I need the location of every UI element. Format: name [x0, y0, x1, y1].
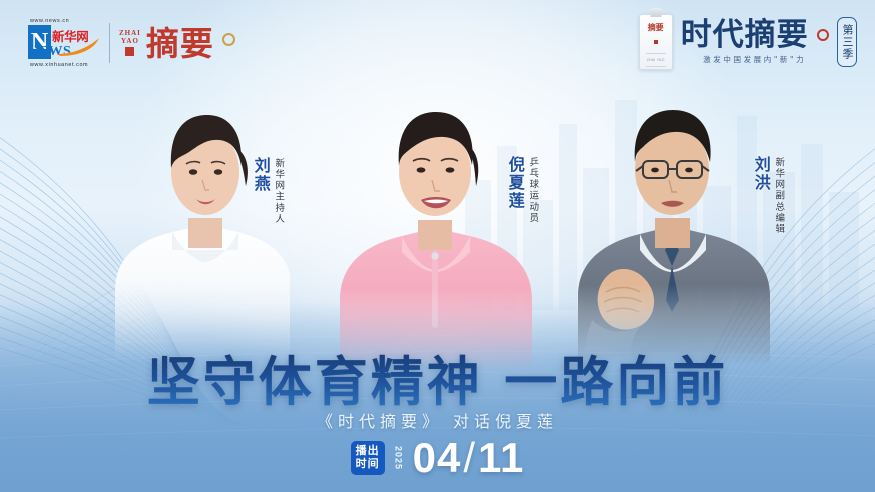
program-logo-block: 摘要 ZHAI YAO 时代摘要 激发中国发展内"新"力 第三季 [639, 14, 857, 70]
guest-name-1: 刘燕 [252, 157, 269, 193]
air-separator: / [463, 434, 476, 481]
air-time-badge: 播出 时间 [351, 441, 385, 475]
zhaiyao-logo: ZHAI YAO 摘要 [119, 27, 235, 60]
guest-role-1: 新华网主持人 [273, 157, 283, 225]
guest-role-3: 新华网副总编辑 [773, 156, 783, 235]
program-subtitle: 激发中国发展内"新"力 [681, 54, 829, 65]
bottle-label: 摘要 ZHAI YAO [644, 23, 668, 71]
program-circle-icon [817, 29, 829, 41]
program-title-block: 时代摘要 激发中国发展内"新"力 [681, 19, 829, 66]
air-month: 04 [413, 434, 462, 481]
zhaiyao-circle-icon [222, 33, 235, 46]
xinhua-url-top: www.news.cn [30, 18, 100, 24]
guest-name-tag-3: 刘洪 新华网副总编辑 [752, 156, 783, 235]
subheadline: 《时代摘要》 对话倪夏莲 [0, 408, 875, 432]
air-day: 11 [478, 434, 524, 481]
broadcast-promo-poster: www.news.cn N 新华网 NEWS www.xinhuanet.com… [0, 0, 875, 492]
guest-name-2: 倪夏莲 [506, 156, 523, 210]
logo-divider [109, 23, 110, 63]
xinhua-logo-core: N 新华网 NEWS [28, 25, 100, 59]
bottle-cap [650, 8, 661, 17]
portrait-liu-yan [115, 115, 292, 360]
program-title-row: 时代摘要 [681, 19, 829, 52]
air-year: 2025 [394, 446, 404, 470]
headline: 坚守体育精神 一路向前 [0, 340, 875, 416]
xinhua-url-bottom: www.xinhuanet.com [30, 62, 100, 68]
xinhua-brand-logo: www.news.cn N 新华网 NEWS www.xinhuanet.com… [28, 18, 235, 68]
bottle-divider-2 [646, 66, 666, 67]
air-date: 04/11 [413, 437, 525, 479]
bottle-brand-name: 摘要 [644, 23, 668, 31]
guest-name-tag-2: 倪夏莲 乒乓球运动员 [506, 156, 537, 224]
guest-role-2: 乒乓球运动员 [527, 156, 537, 224]
zhaiyao-pinyin-line2: YAO [119, 38, 141, 45]
orange-swoosh-icon [58, 38, 100, 56]
program-title: 时代摘要 [681, 19, 809, 52]
xinhua-logo-mark: www.news.cn N 新华网 NEWS www.xinhuanet.com [28, 18, 100, 68]
portrait-liu-hong [578, 110, 770, 366]
zhaiyao-chinese: 摘要 [146, 27, 214, 60]
air-badge-line2: 时间 [356, 458, 380, 471]
zhaiyao-pinyin: ZHAI YAO [119, 30, 141, 56]
bottle-subtext: ZHAI YAO [644, 58, 668, 62]
portrait-ni-xialian [340, 112, 532, 370]
baijiu-bottle-product: 摘要 ZHAI YAO [639, 14, 673, 70]
season-badge: 第三季 [837, 17, 857, 67]
bottle-divider [646, 53, 666, 54]
guest-name-3: 刘洪 [752, 156, 769, 192]
air-date-block: 播出 时间 2025 04/11 [0, 437, 875, 479]
bottle-red-square [654, 40, 658, 44]
guest-name-tag-1: 刘燕 新华网主持人 [252, 157, 283, 225]
zhaiyao-red-square [125, 47, 134, 56]
